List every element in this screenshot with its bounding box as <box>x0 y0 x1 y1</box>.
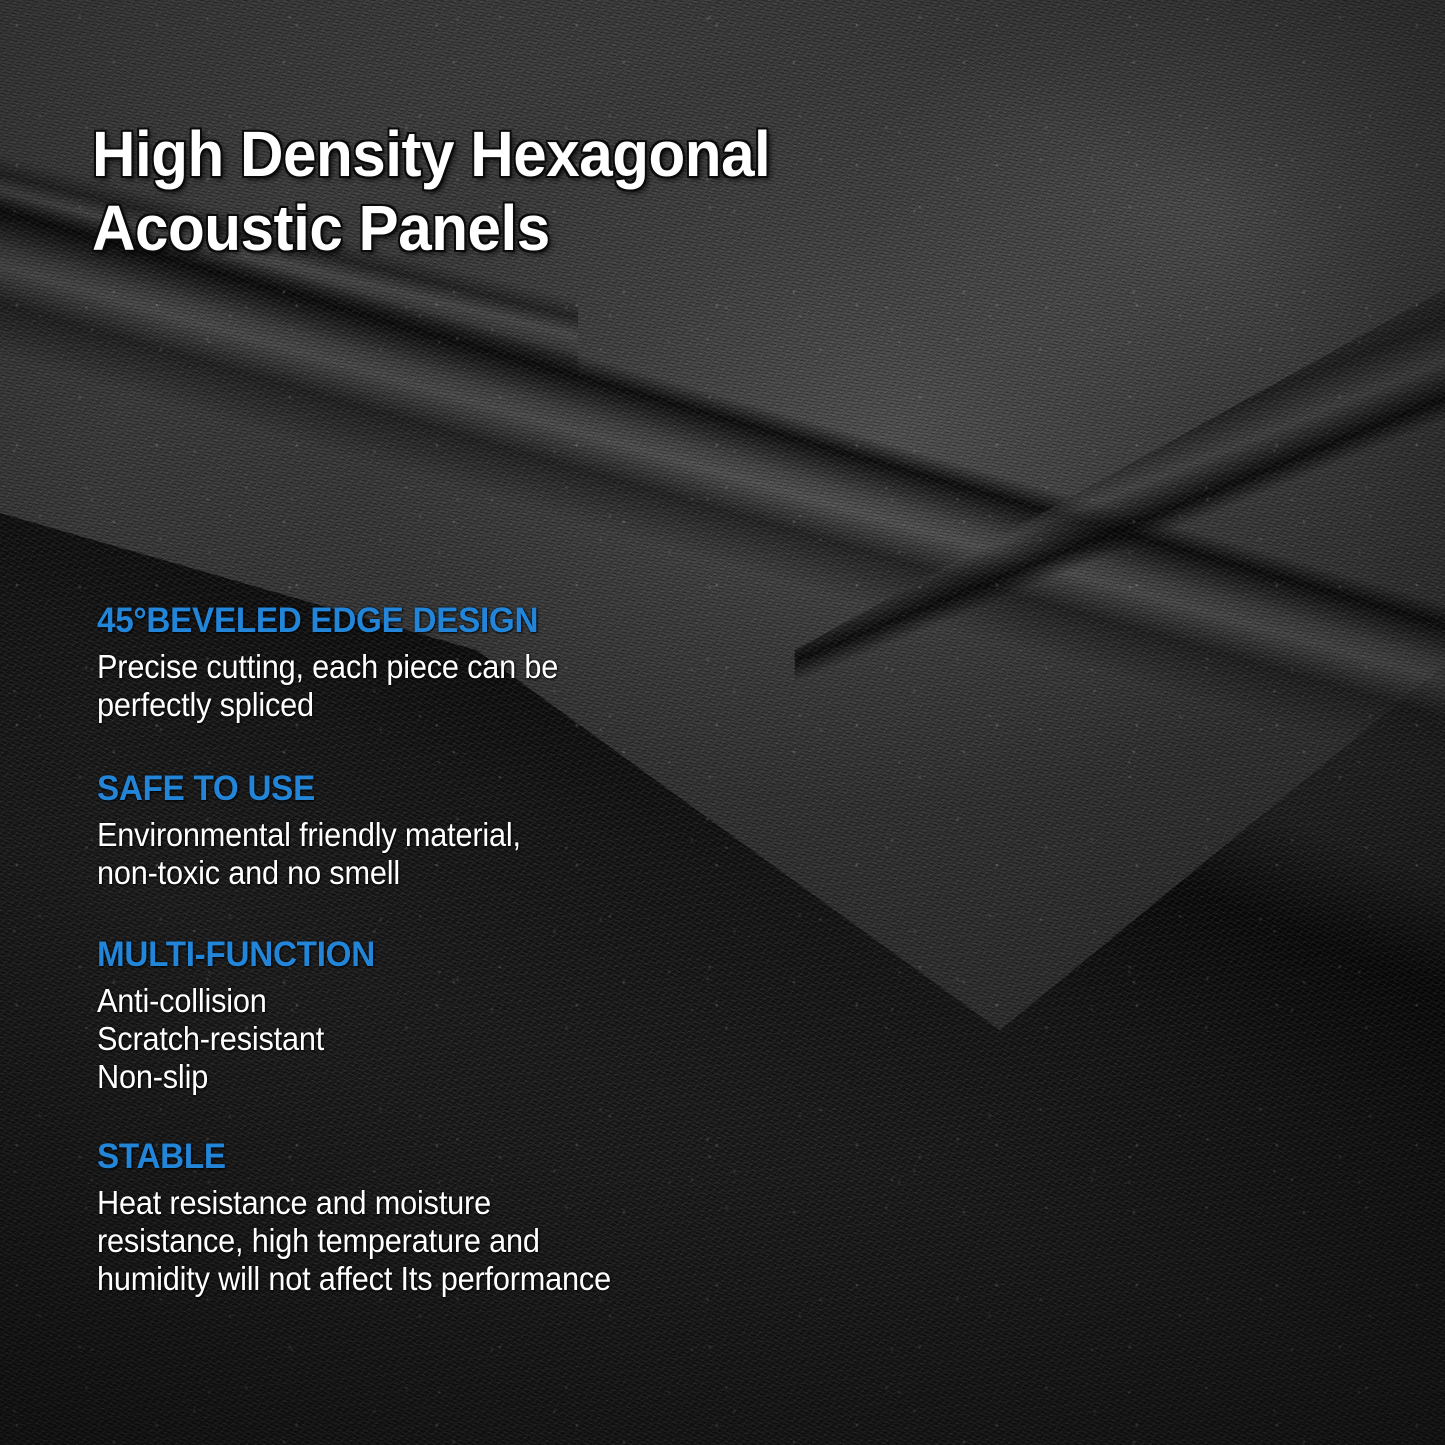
feature-block-safe-to-use: SAFE TO USE Environmental friendly mater… <box>97 768 757 892</box>
feature-block-beveled-edge: 45°BEVELED EDGE DESIGN Precise cutting, … <box>97 600 757 724</box>
feature-heading: MULTI-FUNCTION <box>97 934 724 976</box>
feature-heading: SAFE TO USE <box>97 768 724 810</box>
feature-heading: STABLE <box>97 1136 724 1178</box>
feature-body: Anti-collision Scratch-resistant Non-sli… <box>97 982 711 1096</box>
feature-body: Precise cutting, each piece can be perfe… <box>97 648 711 724</box>
feature-body: Environmental friendly material, non-tox… <box>97 816 711 892</box>
feature-body: Heat resistance and moisture resistance,… <box>97 1184 711 1298</box>
feature-block-stable: STABLE Heat resistance and moisture resi… <box>97 1136 757 1298</box>
product-marketing-image: High Density Hexagonal Acoustic Panels 4… <box>0 0 1445 1445</box>
product-title: High Density Hexagonal Acoustic Panels <box>92 117 770 265</box>
feature-list: 45°BEVELED EDGE DESIGN Precise cutting, … <box>97 600 757 1298</box>
feature-block-multi-function: MULTI-FUNCTION Anti-collision Scratch-re… <box>97 934 757 1096</box>
feature-heading: 45°BEVELED EDGE DESIGN <box>97 600 724 642</box>
